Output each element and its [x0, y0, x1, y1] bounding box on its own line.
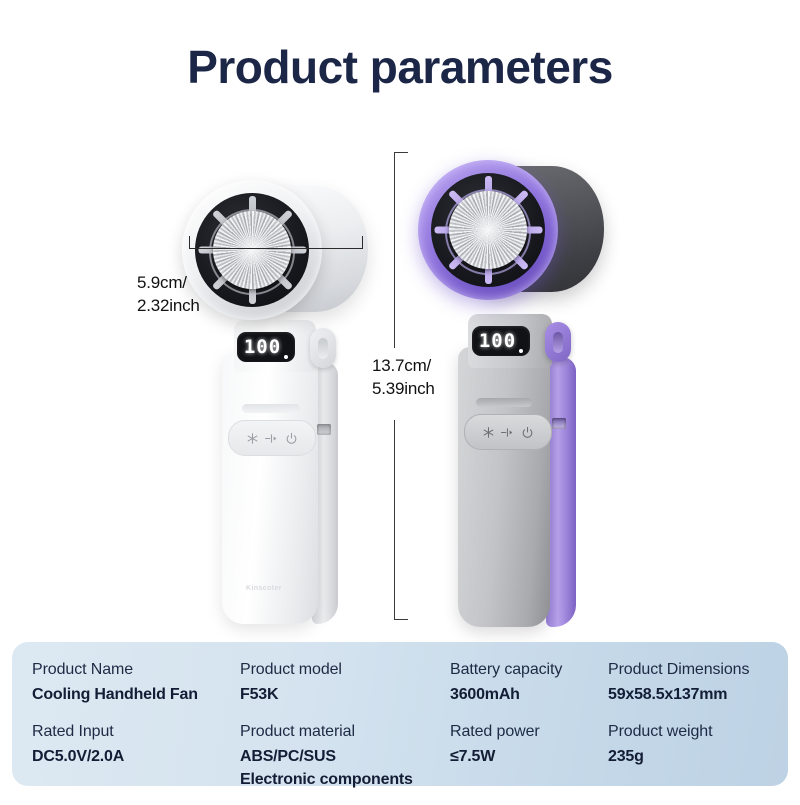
purple-display-value: 100	[479, 332, 516, 351]
snowflake-icon	[482, 426, 495, 439]
purple-head-ring	[418, 160, 558, 300]
power-icon	[285, 432, 298, 445]
white-handle-front	[222, 352, 318, 624]
spec-label: Rated Input	[32, 720, 232, 745]
spec-value: 3600mAh	[450, 683, 620, 706]
spec-value: ≤7.5W	[450, 745, 620, 768]
height-dimension-line-lower	[394, 420, 395, 620]
product-stage: Kinscoter 100	[0, 120, 800, 630]
white-hanging-loop	[310, 328, 336, 368]
spec-label: Product Dimensions	[608, 658, 788, 683]
fan-icon	[264, 432, 280, 445]
spec-column-4: Product Dimensions 59x58.5x137mm Product…	[608, 658, 788, 782]
white-metal-hub	[213, 211, 291, 289]
spec-item: Rated Input DC5.0V/2.0A	[32, 720, 232, 768]
purple-control-button[interactable]	[464, 414, 552, 450]
white-grille	[195, 193, 309, 307]
white-display-dot	[284, 355, 288, 359]
product-white-fan: Kinscoter 100	[176, 152, 376, 632]
product-purple-fan: 100	[416, 142, 626, 632]
spec-panel: Product Name Cooling Handheld Fan Rated …	[12, 642, 788, 786]
fan-icon	[500, 426, 516, 439]
spec-item: Rated power ≤7.5W	[450, 720, 620, 768]
white-fan-head	[182, 180, 368, 320]
height-dimension-tick-bottom	[394, 619, 408, 620]
purple-vent-slot	[476, 398, 532, 407]
spec-item: Product Dimensions 59x58.5x137mm	[608, 658, 788, 706]
spec-column-3: Battery capacity 3600mAh Rated power ≤7.…	[450, 658, 620, 782]
purple-grille	[431, 173, 545, 287]
spec-item: Product model F53K	[240, 658, 450, 706]
spec-item: Battery capacity 3600mAh	[450, 658, 620, 706]
purple-led-display: 100	[472, 326, 530, 356]
purple-handle-side	[546, 357, 576, 627]
white-display-value: 100	[244, 338, 281, 357]
power-icon	[521, 426, 534, 439]
purple-hanging-loop	[545, 322, 571, 362]
spec-item: Product Name Cooling Handheld Fan	[32, 658, 232, 706]
spec-column-1: Product Name Cooling Handheld Fan Rated …	[32, 658, 232, 782]
spec-value: DC5.0V/2.0A	[32, 745, 232, 768]
height-dimension-label: 13.7cm/ 5.39inch	[372, 355, 435, 401]
spec-label: Product material	[240, 720, 450, 745]
white-loop-hole	[318, 338, 328, 359]
width-dimension-label: 5.9cm/ 2.32inch	[137, 272, 200, 318]
snowflake-icon	[246, 432, 259, 445]
purple-metal-hub	[449, 191, 527, 269]
width-dimension-tick-left	[189, 236, 190, 249]
height-dimension-line-upper	[394, 152, 395, 348]
purple-loop-hole	[553, 332, 563, 353]
spec-value: Cooling Handheld Fan	[32, 683, 232, 706]
purple-charging-port	[552, 418, 566, 429]
spec-item: Product weight 235g	[608, 720, 788, 768]
spec-label: Product weight	[608, 720, 788, 745]
spec-column-2: Product model F53K Product material ABS/…	[240, 658, 450, 805]
spec-value: F53K	[240, 683, 450, 706]
spec-label: Rated power	[450, 720, 620, 745]
purple-handle-front	[458, 347, 550, 627]
page-title: Product parameters	[0, 44, 800, 90]
width-dimension-tick-right	[362, 236, 363, 249]
height-dimension-tick-top	[394, 152, 408, 153]
white-vent-slot	[242, 404, 300, 413]
white-head-ring	[182, 180, 322, 320]
white-led-display: 100	[237, 332, 295, 362]
white-control-button[interactable]	[228, 420, 316, 456]
spec-label: Battery capacity	[450, 658, 620, 683]
width-dimension-line	[189, 248, 363, 249]
purple-display-dot	[519, 349, 523, 353]
white-brand-logo: Kinscoter	[246, 585, 282, 592]
spec-label: Product model	[240, 658, 450, 683]
white-charging-port	[317, 424, 331, 435]
spec-value: 235g	[608, 745, 788, 768]
spec-value: 59x58.5x137mm	[608, 683, 788, 706]
spec-value: ABS/PC/SUS Electronic components	[240, 745, 450, 791]
purple-fan-head	[418, 160, 604, 300]
spec-label: Product Name	[32, 658, 232, 683]
spec-item: Product material ABS/PC/SUS Electronic c…	[240, 720, 450, 791]
